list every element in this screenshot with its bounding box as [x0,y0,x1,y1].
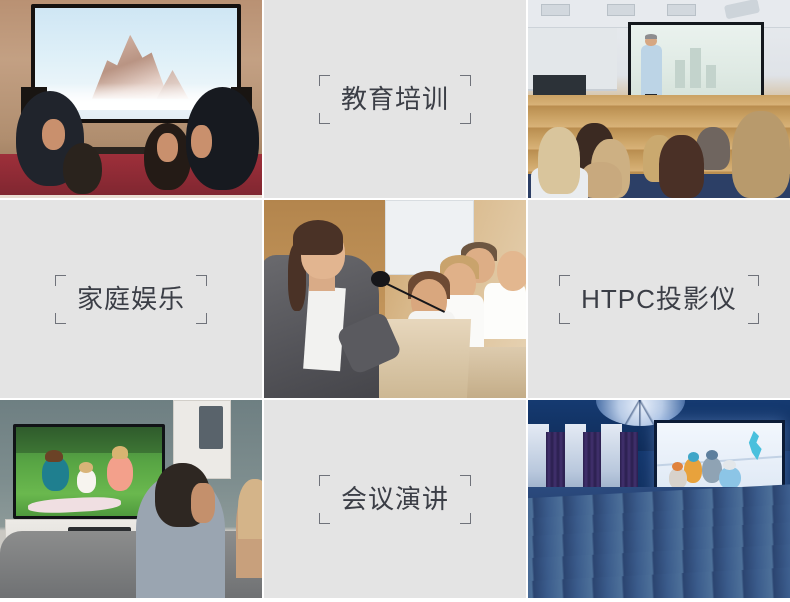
snow-kid-3-hat [706,450,719,461]
corner-bottom-right-icon [748,313,759,324]
viewer-father-face [42,119,66,151]
viewer-mother-face [191,125,212,159]
snow-kid-1 [669,468,687,489]
snow-kid-2 [684,458,702,482]
corner-bottom-right-icon [196,313,207,324]
lecture-screen-content [631,25,761,102]
skier-figure [747,431,765,460]
corner-bottom-left-icon [559,313,570,324]
sidebar-item-htpc-projector[interactable]: HTPC投影仪 [528,200,790,398]
corner-top-right-icon [748,275,759,286]
conference-speech-label: 会议演讲 [341,484,449,514]
picnic-mother-head [112,446,128,458]
conference-speaker-photo[interactable] [264,200,526,398]
label-bracket-box: 教育培训 [319,75,471,124]
slide-bar-3 [706,65,716,88]
sidebar-item-home-entertainment[interactable]: 家庭娱乐 [0,200,262,398]
scene-grid: 教育培训 [0,0,790,602]
cinema-hall-photo[interactable] [528,400,790,598]
home-theater-family-photo[interactable] [0,0,262,198]
slide-bar-2 [690,48,700,88]
sofa-cushion [0,195,262,198]
lecture-hall-photo[interactable] [528,0,790,198]
corner-top-right-icon [196,275,207,286]
corner-bottom-right-icon [460,513,471,524]
ceiling-vent-2 [607,4,636,16]
audience-4 [497,251,526,291]
snow-kid-4-hat [723,460,736,470]
picnic-blanket [27,496,121,515]
label-bracket-box: 会议演讲 [319,475,471,524]
presenter-hair [645,34,657,39]
wall-monitor [533,75,585,95]
corner-bottom-left-icon [55,313,66,324]
student-7 [732,111,790,198]
snow-kid-4 [719,467,740,490]
speaker-shirt [303,286,345,372]
student-1 [538,127,580,194]
corner-top-left-icon [55,275,66,286]
ceiling-vent-3 [667,4,696,16]
sidebar-item-conference-speech[interactable]: 会议演讲 [264,400,526,598]
picnic-mother [107,455,133,491]
audience-3-shirt [484,283,526,338]
htpc-projector-label: HTPC投影仪 [581,284,737,314]
microphone-icon [371,271,389,287]
viewer-woman-hair [238,479,262,538]
viewer-girl-face [157,133,178,163]
corner-bottom-left-icon [319,513,330,524]
ceiling-vent-1 [541,4,570,16]
slide-bar-1 [675,60,685,88]
living-room-tv-photo[interactable] [0,400,262,598]
corner-top-left-icon [319,75,330,86]
corner-top-left-icon [319,475,330,486]
corner-bottom-right-icon [460,113,471,124]
snow-kid-2-hat [688,452,699,462]
home-entertainment-label: 家庭娱乐 [77,284,185,314]
cabinet-handle [199,406,223,450]
corner-top-left-icon [559,275,570,286]
corner-top-right-icon [460,475,471,486]
lecture-projection-screen [628,22,764,105]
speaker-hair [293,220,343,256]
label-bracket-box: 家庭娱乐 [55,275,207,324]
education-training-label: 教育培训 [341,84,449,114]
corner-bottom-left-icon [319,113,330,124]
label-bracket-box: HTPC投影仪 [559,275,759,324]
tv-trees [16,427,162,454]
corner-top-right-icon [460,75,471,86]
picnic-father [42,457,68,491]
viewer-man-face [191,483,215,523]
viewer-toddler [63,143,102,194]
student-5 [659,135,704,198]
sidebar-item-education-training[interactable]: 教育培训 [264,0,526,198]
picnic-father-head [45,450,63,462]
